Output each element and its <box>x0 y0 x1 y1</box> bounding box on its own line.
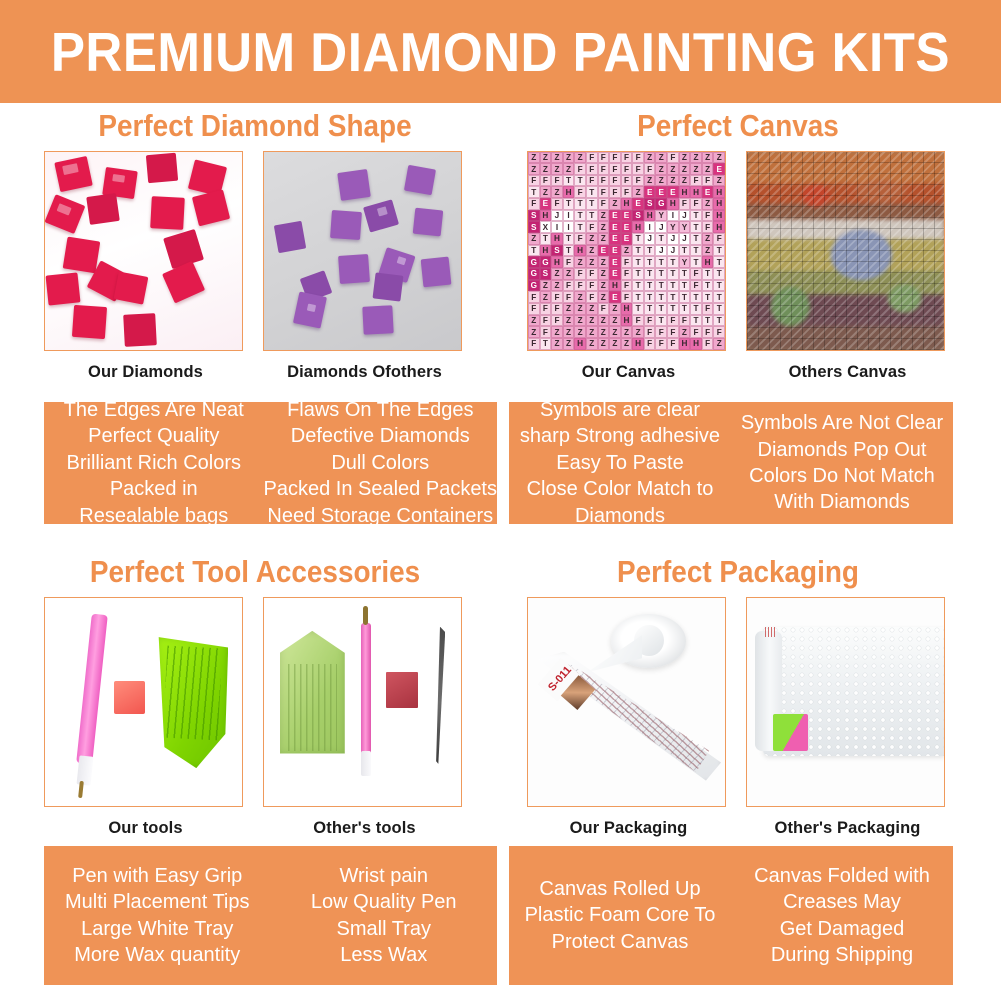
photo-our-tools <box>44 597 243 807</box>
text-block-packaging: Canvas Rolled UpPlastic Foam Core ToProt… <box>509 846 953 985</box>
canvas-symbol-cell: J <box>679 233 691 245</box>
canvas-symbol-cell: E <box>609 256 621 268</box>
canvas-symbol-cell: T <box>655 315 667 327</box>
canvas-symbol-cell: E <box>667 186 679 198</box>
photo-other-tools <box>263 597 462 807</box>
canvas-symbol-cell: E <box>632 198 644 210</box>
canvas-symbol-cell: F <box>621 152 633 164</box>
canvas-symbol-cell: F <box>586 268 598 280</box>
point-item: During Shipping <box>754 942 930 968</box>
canvas-symbol-cell: T <box>632 280 644 292</box>
canvas-symbol-cell: Z <box>609 315 621 327</box>
compare-cell-other-tools: Other's tools <box>263 597 466 838</box>
canvas-symbol-cell: F <box>644 338 656 350</box>
point-item: Symbols are clear <box>520 397 720 423</box>
canvas-symbol-cell: F <box>621 280 633 292</box>
canvas-symbol-cell: T <box>644 291 656 303</box>
section-title-tool-accessories: Perfect Tool Accessories <box>45 550 464 597</box>
point-item: Flaws On The Edges <box>264 397 497 423</box>
canvas-symbol-cell: Z <box>574 291 586 303</box>
canvas-symbol-cell: F <box>713 326 725 338</box>
canvas-symbol-cell: F <box>702 338 714 350</box>
canvas-symbol-cell: E <box>702 186 714 198</box>
point-item: Diamonds Pop Out <box>741 437 943 463</box>
canvas-symbol-cell: J <box>667 233 679 245</box>
canvas-symbol-cell: F <box>586 221 598 233</box>
point-item: Creases May <box>754 889 930 915</box>
point-item: More Wax quantity <box>65 942 250 968</box>
canvas-symbol-cell: T <box>713 280 725 292</box>
canvas-symbol-cell: T <box>563 175 575 187</box>
canvas-symbol-cell: F <box>563 280 575 292</box>
compare-cell-our-diamonds: Our Diamonds <box>44 151 247 382</box>
canvas-symbol-cell: J <box>551 210 563 222</box>
canvas-symbol-cell: Z <box>598 315 610 327</box>
canvas-symbol-cell: T <box>679 280 691 292</box>
canvas-symbol-cell: F <box>528 291 540 303</box>
canvas-symbol-cell: Z <box>609 338 621 350</box>
canvas-symbol-cell: H <box>632 221 644 233</box>
point-item: Easy To Paste <box>520 450 720 476</box>
point-item: Large White Tray <box>65 916 250 942</box>
canvas-symbol-cell: Z <box>540 186 552 198</box>
canvas-symbol-cell: T <box>540 233 552 245</box>
canvas-symbol-cell: F <box>528 338 540 350</box>
page-title: PREMIUM DIAMOND PAINTING KITS <box>51 20 950 84</box>
canvas-symbol-cell: F <box>563 256 575 268</box>
point-item: Small Tray <box>311 916 457 942</box>
point-item: Defective Diamonds <box>264 423 497 449</box>
canvas-symbol-cell: T <box>679 303 691 315</box>
canvas-symbol-cell: Z <box>586 303 598 315</box>
canvas-symbol-cell: Z <box>667 175 679 187</box>
canvas-symbol-cell: H <box>551 233 563 245</box>
canvas-symbol-cell: T <box>702 291 714 303</box>
text-block-canvas: Symbols are clearsharp Strong adhesiveEa… <box>509 402 953 524</box>
pale-tray-grooves-icon <box>288 664 337 751</box>
canvas-symbol-cell: H <box>551 256 563 268</box>
infographic-page: PREMIUM DIAMOND PAINTING KITS Perfect Di… <box>0 0 1001 1001</box>
text-blocks-top: The Edges Are NeatPerfect QualityBrillia… <box>44 402 953 524</box>
canvas-symbol-cell: F <box>598 303 610 315</box>
section-diamond-shape: Perfect Diamond Shape <box>22 104 488 382</box>
canvas-symbol-cell: Z <box>563 303 575 315</box>
canvas-symbol-cell: Z <box>713 175 725 187</box>
canvas-symbol-cell: F <box>586 163 598 175</box>
point-item: Packed in <box>64 476 244 502</box>
canvas-symbol-cell: T <box>540 338 552 350</box>
canvas-symbol-cell: F <box>702 326 714 338</box>
canvas-symbol-cell: T <box>574 210 586 222</box>
canvas-symbol-cell: T <box>713 268 725 280</box>
canvas-symbol-cell: T <box>655 303 667 315</box>
point-item: Colors Do Not Match <box>741 463 943 489</box>
canvas-symbol-cell: H <box>713 210 725 222</box>
text-block-diamond-shape: The Edges Are NeatPerfect QualityBrillia… <box>44 402 497 524</box>
points-our-tools: Pen with Easy GripMulti Placement TipsLa… <box>65 863 250 969</box>
canvas-symbol-cell: F <box>551 315 563 327</box>
canvas-symbol-cell: S <box>551 245 563 257</box>
canvas-symbol-cell: F <box>690 175 702 187</box>
point-item: Packed In Sealed Packets <box>264 476 497 502</box>
point-item: Resealable bags <box>64 503 244 529</box>
canvas-symbol-cell: T <box>713 303 725 315</box>
canvas-symbol-cell: Z <box>702 198 714 210</box>
canvas-symbol-cell: F <box>528 175 540 187</box>
canvas-symbol-cell: Z <box>586 338 598 350</box>
canvas-symbol-cell: T <box>632 233 644 245</box>
canvas-symbol-cell: H <box>609 280 621 292</box>
canvas-symbol-cell: E <box>621 210 633 222</box>
canvas-symbol-cell: F <box>655 338 667 350</box>
canvas-symbol-cell: T <box>655 291 667 303</box>
canvas-symbol-cell: Z <box>690 152 702 164</box>
canvas-symbol-cell: T <box>586 210 598 222</box>
canvas-symbol-cell: E <box>621 233 633 245</box>
canvas-symbol-cell: E <box>609 291 621 303</box>
canvas-symbol-cell: Z <box>632 326 644 338</box>
canvas-symbol-cell: F <box>621 291 633 303</box>
points-other-packaging: Canvas Folded withCreases MayGet Damaged… <box>754 863 930 969</box>
canvas-symbol-cell: T <box>632 291 644 303</box>
canvas-symbol-cell: H <box>632 338 644 350</box>
tray-grooves-icon <box>163 646 223 740</box>
canvas-symbol-cell: Z <box>609 198 621 210</box>
points-our-canvas: Symbols are clearsharp Strong adhesiveEa… <box>520 397 720 529</box>
page-banner: PREMIUM DIAMOND PAINTING KITS <box>0 0 1001 103</box>
canvas-symbol-cell: Y <box>679 221 691 233</box>
canvas-symbol-cell: Z <box>655 175 667 187</box>
canvas-symbol-cell: Z <box>540 280 552 292</box>
canvas-symbol-cell: F <box>690 280 702 292</box>
canvas-symbol-cell: Z <box>563 163 575 175</box>
other-canvas-grid-texture <box>747 152 944 350</box>
canvas-symbol-cell: F <box>667 152 679 164</box>
section-title-packaging: Perfect Packaging <box>528 550 947 597</box>
canvas-symbol-cell: F <box>690 198 702 210</box>
canvas-symbol-cell: Z <box>702 163 714 175</box>
canvas-symbol-cell: T <box>644 280 656 292</box>
canvas-symbol-cell: F <box>586 280 598 292</box>
canvas-symbol-cell: T <box>713 245 725 257</box>
canvas-symbol-cell: F <box>713 233 725 245</box>
canvas-symbol-cell: Z <box>528 233 540 245</box>
canvas-symbol-cell: Z <box>540 163 552 175</box>
canvas-symbol-cell: F <box>598 152 610 164</box>
canvas-symbol-cell: Z <box>644 152 656 164</box>
canvas-symbol-cell: E <box>609 268 621 280</box>
canvas-symbol-cell: S <box>632 210 644 222</box>
canvas-symbol-cell: F <box>667 326 679 338</box>
canvas-symbol-cell: T <box>679 291 691 303</box>
canvas-symbol-cell: Z <box>621 326 633 338</box>
caption-our-canvas: Our Canvas <box>527 351 730 382</box>
pink-pen-icon <box>77 614 108 765</box>
canvas-symbol-cell: S <box>528 210 540 222</box>
canvas-symbol-cell: F <box>702 303 714 315</box>
canvas-symbol-cell: T <box>655 233 667 245</box>
other-pen-needle-icon <box>363 606 367 625</box>
point-item: Symbols Are Not Clear <box>741 410 943 436</box>
canvas-symbol-cell: T <box>690 221 702 233</box>
canvas-symbol-cell: H <box>667 198 679 210</box>
canvas-symbol-cell: Z <box>586 315 598 327</box>
canvas-symbol-cell: T <box>690 245 702 257</box>
canvas-symbol-cell: X <box>540 221 552 233</box>
canvas-symbol-grid: ZZZZZFFFFFZZFZZZZZZZZFFFFFFFZZZZZEFFFTTF… <box>528 152 725 350</box>
canvas-symbol-cell: F <box>702 221 714 233</box>
canvas-symbol-cell: F <box>644 163 656 175</box>
point-item: sharp Strong adhesive <box>520 423 720 449</box>
canvas-symbol-cell: T <box>574 198 586 210</box>
canvas-symbol-cell: Z <box>598 210 610 222</box>
canvas-symbol-cell: F <box>690 326 702 338</box>
canvas-symbol-cell: J <box>644 233 656 245</box>
canvas-symbol-cell: T <box>644 245 656 257</box>
canvas-symbol-cell: E <box>609 233 621 245</box>
canvas-symbol-cell: Z <box>574 303 586 315</box>
canvas-symbol-cell: T <box>713 256 725 268</box>
canvas-symbol-cell: Z <box>574 326 586 338</box>
caption-other-packaging: Other's Packaging <box>746 807 949 838</box>
canvas-symbol-cell: H <box>702 256 714 268</box>
canvas-symbol-cell: F <box>586 291 598 303</box>
canvas-symbol-cell: Z <box>563 338 575 350</box>
compare-cell-our-packaging: S-011 Our Packaging <box>527 597 730 838</box>
point-item: Plastic Foam Core To <box>525 902 716 928</box>
canvas-symbol-cell: Z <box>551 163 563 175</box>
canvas-symbol-cell: F <box>551 291 563 303</box>
canvas-symbol-cell: G <box>655 198 667 210</box>
section-title-diamond-shape: Perfect Diamond Shape <box>45 104 464 151</box>
canvas-symbol-cell: T <box>713 291 725 303</box>
canvas-symbol-cell: F <box>702 175 714 187</box>
mailer-contents-icon <box>773 714 808 751</box>
photo-other-canvas <box>746 151 945 351</box>
compare-cell-our-tools: Our tools <box>44 597 247 838</box>
canvas-symbol-cell: T <box>563 233 575 245</box>
canvas-symbol-cell: Z <box>679 163 691 175</box>
canvas-symbol-cell: T <box>690 291 702 303</box>
canvas-symbol-cell: T <box>644 303 656 315</box>
canvas-symbol-cell: E <box>609 221 621 233</box>
canvas-symbol-cell: Z <box>586 326 598 338</box>
canvas-symbol-cell: Z <box>679 326 691 338</box>
caption-our-diamonds: Our Diamonds <box>44 351 247 382</box>
canvas-symbol-cell: T <box>644 256 656 268</box>
canvas-symbol-cell: T <box>702 268 714 280</box>
canvas-symbol-cell: Z <box>598 326 610 338</box>
canvas-symbol-cell: Y <box>655 210 667 222</box>
canvas-symbol-cell: F <box>621 268 633 280</box>
text-blocks-bottom: Pen with Easy GripMulti Placement TipsLa… <box>44 846 953 985</box>
canvas-symbol-cell: Z <box>563 326 575 338</box>
canvas-symbol-cell: Z <box>528 152 540 164</box>
canvas-symbol-cell: Z <box>598 280 610 292</box>
canvas-symbol-cell: Z <box>702 152 714 164</box>
canvas-symbol-cell: F <box>655 326 667 338</box>
canvas-symbol-cell: T <box>667 268 679 280</box>
canvas-symbol-cell: T <box>655 280 667 292</box>
compare-cell-other-canvas: Others Canvas <box>746 151 949 382</box>
canvas-symbol-cell: F <box>679 315 691 327</box>
canvas-symbol-cell: Z <box>702 233 714 245</box>
point-item: Wrist pain <box>311 863 457 889</box>
canvas-symbol-cell: F <box>621 256 633 268</box>
point-item: Protect Canvas <box>525 929 716 955</box>
canvas-symbol-cell: T <box>655 256 667 268</box>
canvas-symbol-cell: T <box>667 291 679 303</box>
points-other-tools: Wrist painLow Quality PenSmall TrayLess … <box>311 863 457 969</box>
canvas-symbol-cell: Z <box>655 163 667 175</box>
point-item: Pen with Easy Grip <box>65 863 250 889</box>
compare-cell-other-diamonds: Diamonds Ofothers <box>263 151 466 382</box>
photo-other-diamonds <box>263 151 462 351</box>
canvas-symbol-cell: F <box>551 198 563 210</box>
canvas-symbol-cell: H <box>679 186 691 198</box>
canvas-symbol-cell: F <box>598 175 610 187</box>
canvas-symbol-cell: T <box>644 268 656 280</box>
canvas-symbol-cell: F <box>621 175 633 187</box>
canvas-symbol-cell: I <box>667 210 679 222</box>
canvas-symbol-cell: Z <box>679 175 691 187</box>
point-item: Canvas Folded with <box>754 863 930 889</box>
canvas-symbol-cell: Z <box>540 152 552 164</box>
canvas-symbol-cell: Z <box>551 152 563 164</box>
canvas-symbol-cell: G <box>540 256 552 268</box>
canvas-symbol-cell: E <box>609 245 621 257</box>
canvas-symbol-cell: H <box>621 198 633 210</box>
canvas-symbol-cell: F <box>621 163 633 175</box>
canvas-symbol-cell: Z <box>632 186 644 198</box>
canvas-symbol-cell: F <box>598 198 610 210</box>
canvas-symbol-cell: H <box>644 210 656 222</box>
canvas-symbol-cell: Z <box>563 268 575 280</box>
photo-our-diamonds <box>44 151 243 351</box>
canvas-symbol-cell: Z <box>667 163 679 175</box>
canvas-symbol-cell: T <box>690 210 702 222</box>
canvas-symbol-cell: F <box>667 338 679 350</box>
canvas-symbol-cell: F <box>528 303 540 315</box>
canvas-symbol-cell: H <box>713 186 725 198</box>
canvas-symbol-cell: T <box>632 303 644 315</box>
canvas-symbol-cell: T <box>563 198 575 210</box>
tweezers-icon <box>431 627 445 764</box>
canvas-symbol-cell: F <box>574 233 586 245</box>
canvas-symbol-cell: F <box>551 303 563 315</box>
canvas-symbol-cell: S <box>644 198 656 210</box>
canvas-symbol-cell: T <box>528 186 540 198</box>
point-item: Low Quality Pen <box>311 889 457 915</box>
canvas-symbol-cell: F <box>540 175 552 187</box>
canvas-symbol-cell: F <box>609 186 621 198</box>
canvas-symbol-cell: T <box>702 280 714 292</box>
point-item: Less Wax <box>311 942 457 968</box>
canvas-symbol-cell: T <box>632 256 644 268</box>
point-item: Diamonds <box>520 503 720 529</box>
canvas-symbol-cell: E <box>713 163 725 175</box>
photo-our-canvas: ZZZZZFFFFFZZFZZZZZZZZFFFFFFFZZZZZEFFFTTF… <box>527 151 726 351</box>
canvas-symbol-cell: F <box>574 186 586 198</box>
caption-other-diamonds: Diamonds Ofothers <box>263 351 466 382</box>
canvas-symbol-cell: Z <box>713 338 725 350</box>
canvas-symbol-cell: F <box>574 280 586 292</box>
canvas-symbol-cell: T <box>586 186 598 198</box>
photo-our-packaging: S-011 <box>527 597 726 807</box>
canvas-symbol-cell: F <box>690 268 702 280</box>
canvas-symbol-cell: T <box>574 175 586 187</box>
section-packaging: Perfect Packaging S-011 Our Packaging <box>505 550 971 838</box>
canvas-symbol-cell: T <box>632 245 644 257</box>
canvas-symbol-cell: Z <box>586 233 598 245</box>
canvas-symbol-cell: H <box>713 198 725 210</box>
compare-cell-other-packaging: Other's Packaging <box>746 597 949 838</box>
canvas-symbol-cell: T <box>690 256 702 268</box>
canvas-symbol-cell: H <box>563 186 575 198</box>
canvas-symbol-cell: F <box>574 268 586 280</box>
point-item: Get Damaged <box>754 916 930 942</box>
canvas-symbol-cell: F <box>598 186 610 198</box>
canvas-symbol-cell: J <box>679 210 691 222</box>
canvas-symbol-cell: H <box>621 303 633 315</box>
canvas-symbol-cell: F <box>551 175 563 187</box>
canvas-symbol-cell: T <box>586 198 598 210</box>
canvas-symbol-cell: Z <box>690 163 702 175</box>
text-block-tool-accessories: Pen with Easy GripMulti Placement TipsLa… <box>44 846 497 985</box>
mailer-seam-icon <box>765 627 775 637</box>
canvas-symbol-cell: T <box>574 221 586 233</box>
canvas-symbol-cell: Z <box>621 245 633 257</box>
canvas-symbol-cell: H <box>574 338 586 350</box>
canvas-symbol-cell: Z <box>551 280 563 292</box>
canvas-symbol-cell: F <box>632 175 644 187</box>
canvas-symbol-cell: T <box>528 245 540 257</box>
canvas-symbol-cell: Z <box>551 338 563 350</box>
canvas-symbol-cell: I <box>644 221 656 233</box>
canvas-symbol-cell: Z <box>551 268 563 280</box>
canvas-symbol-cell: Z <box>551 326 563 338</box>
canvas-symbol-cell: F <box>644 326 656 338</box>
canvas-symbol-cell: E <box>540 198 552 210</box>
canvas-symbol-cell: F <box>609 152 621 164</box>
canvas-symbol-cell: F <box>632 152 644 164</box>
canvas-symbol-cell: F <box>632 163 644 175</box>
canvas-symbol-cell: Z <box>586 256 598 268</box>
canvas-symbol-cell: Z <box>563 152 575 164</box>
canvas-symbol-cell: Z <box>574 256 586 268</box>
canvas-symbol-cell: T <box>563 245 575 257</box>
canvas-symbol-cell: Z <box>598 233 610 245</box>
canvas-symbol-cell: F <box>667 315 679 327</box>
canvas-symbol-cell: E <box>644 186 656 198</box>
canvas-symbol-cell: H <box>621 315 633 327</box>
canvas-symbol-cell: J <box>667 245 679 257</box>
canvas-symbol-cell: H <box>574 245 586 257</box>
caption-our-tools: Our tools <box>44 807 247 838</box>
canvas-symbol-cell: F <box>702 210 714 222</box>
canvas-symbol-cell: Y <box>667 221 679 233</box>
canvas-symbol-cell: F <box>621 186 633 198</box>
canvas-symbol-cell: Z <box>609 303 621 315</box>
canvas-symbol-cell: Z <box>679 152 691 164</box>
points-our-diamonds: The Edges Are NeatPerfect QualityBrillia… <box>64 397 244 529</box>
canvas-symbol-cell: Z <box>598 268 610 280</box>
other-pink-pen-icon <box>361 623 372 756</box>
canvas-symbol-cell: F <box>586 175 598 187</box>
canvas-symbol-cell: T <box>690 303 702 315</box>
section-canvas: Perfect Canvas ZZZZZFFFFFZZFZZZZZZZZFFFF… <box>505 104 971 382</box>
canvas-symbol-cell: T <box>690 233 702 245</box>
